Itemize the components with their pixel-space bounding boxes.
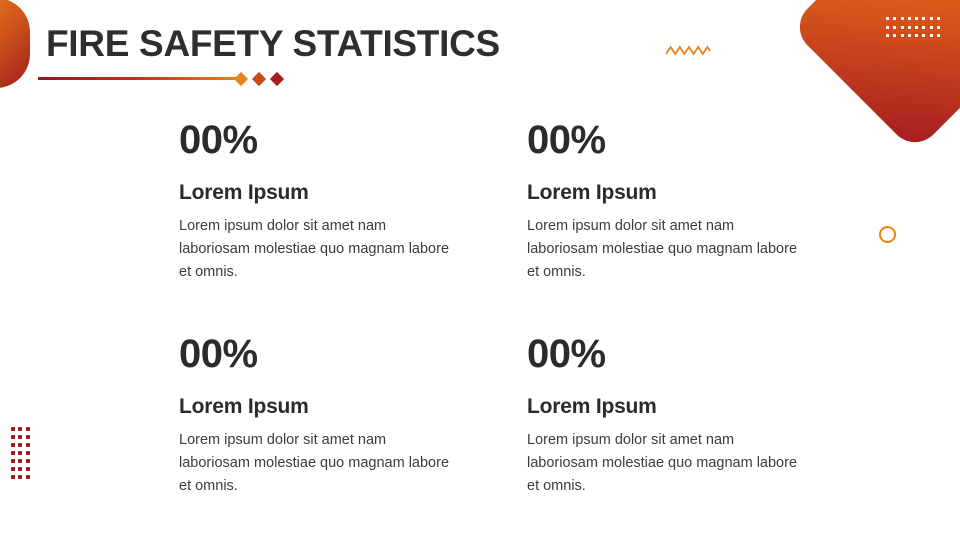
divider-diamond-1	[234, 72, 248, 86]
white-dot-grid-icon	[886, 17, 944, 43]
stat-value: 00%	[179, 118, 469, 162]
stat-label: Lorem Ipsum	[179, 395, 469, 419]
divider-diamond-3	[270, 72, 284, 86]
stat-label: Lorem Ipsum	[527, 181, 817, 205]
stat-description: Lorem ipsum dolor sit amet nam laboriosa…	[179, 429, 454, 498]
stat-value: 00%	[179, 332, 469, 376]
stat-block: 00% Lorem Ipsum Lorem ipsum dolor sit am…	[179, 118, 469, 332]
stat-label: Lorem Ipsum	[527, 395, 817, 419]
stat-description: Lorem ipsum dolor sit amet nam laboriosa…	[179, 215, 454, 284]
statistics-grid: 00% Lorem Ipsum Lorem ipsum dolor sit am…	[179, 118, 839, 498]
red-dot-grid-icon	[11, 427, 33, 483]
slide-canvas: FIRE SAFETY STATISTICS 00% Lorem Ipsum L…	[0, 0, 960, 540]
stat-value: 00%	[527, 118, 817, 162]
divider-diamond-2	[252, 72, 266, 86]
stat-description: Lorem ipsum dolor sit amet nam laboriosa…	[527, 215, 802, 284]
stat-block: 00% Lorem Ipsum Lorem ipsum dolor sit am…	[527, 118, 817, 332]
stat-value: 00%	[527, 332, 817, 376]
title-divider	[38, 71, 288, 87]
left-accent-shape	[0, 0, 30, 88]
zigzag-icon	[664, 42, 712, 60]
divider-line	[38, 77, 242, 80]
circle-outline-icon	[879, 226, 896, 243]
stat-label: Lorem Ipsum	[179, 181, 469, 205]
stat-block: 00% Lorem Ipsum Lorem ipsum dolor sit am…	[527, 332, 817, 498]
page-title: FIRE SAFETY STATISTICS	[46, 23, 500, 65]
stat-description: Lorem ipsum dolor sit amet nam laboriosa…	[527, 429, 802, 498]
stat-block: 00% Lorem Ipsum Lorem ipsum dolor sit am…	[179, 332, 469, 498]
